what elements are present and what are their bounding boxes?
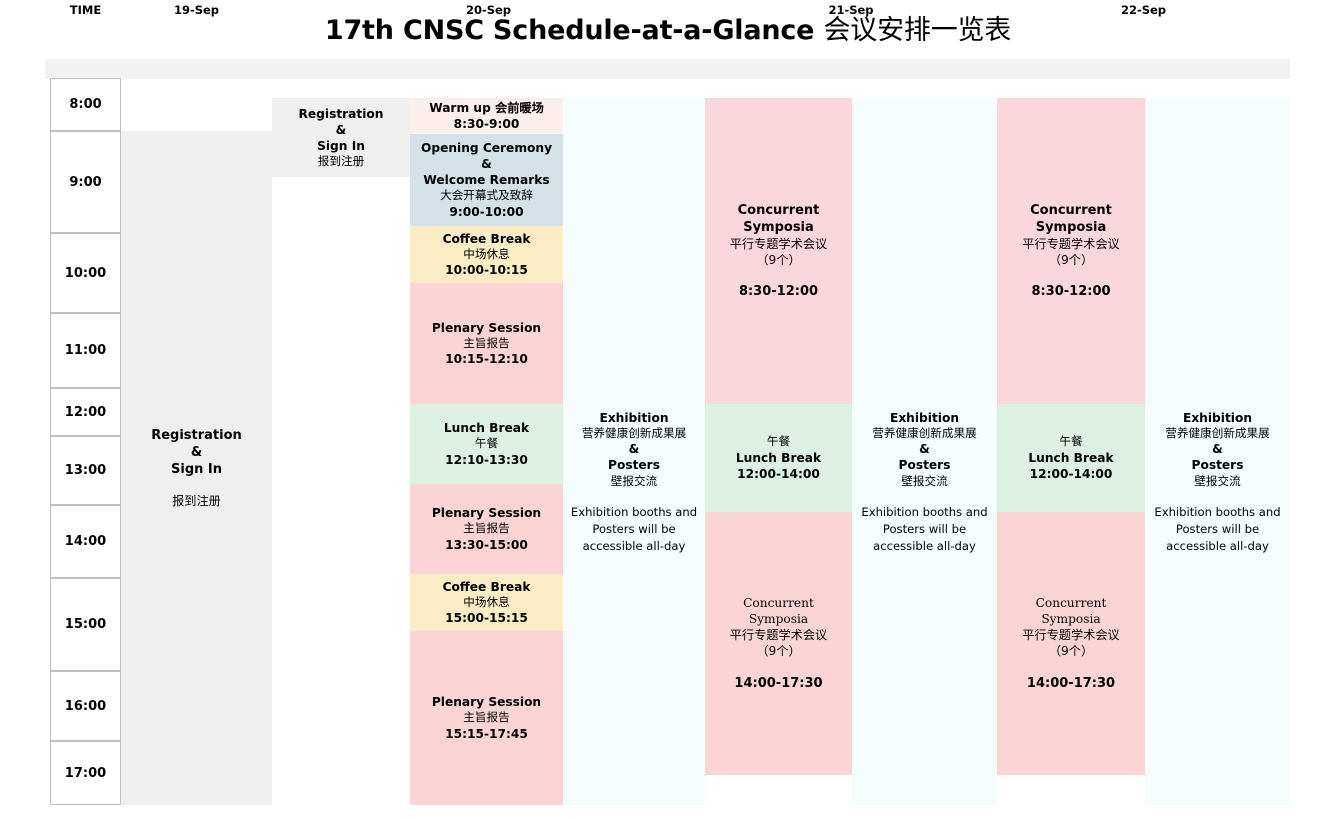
session-sep20-lunch[interactable]: Lunch Break 午餐 12:10-13:30 bbox=[410, 404, 563, 484]
sep20-opening-line5: 9:00-10:00 bbox=[413, 204, 560, 220]
sep20-plenary-pm2-line1: Plenary Session bbox=[413, 694, 560, 710]
sep22-sym-am-line4: （9个） bbox=[1000, 252, 1142, 268]
spacer bbox=[708, 660, 849, 675]
time-cell-1000: 10:00 bbox=[50, 233, 121, 313]
spacer bbox=[1000, 660, 1142, 675]
sep22-sym-pm-line3: 平行专题学术会议 bbox=[1000, 627, 1142, 643]
sep21-lunch-line1: 午餐 bbox=[708, 434, 849, 449]
session-sep22-lunch[interactable]: 午餐 Lunch Break 12:00-14:00 bbox=[997, 404, 1145, 512]
sep21-sym-am-line3: 平行专题学术会议 bbox=[708, 236, 849, 252]
spacer bbox=[566, 489, 702, 504]
time-cell-1500: 15:00 bbox=[50, 578, 121, 671]
sep20-coffee-am-line2: 中场休息 bbox=[413, 247, 560, 262]
sep21-sym-pm-line5: 14:00-17:30 bbox=[708, 675, 849, 692]
sep20-coffee-am-line3: 10:00-10:15 bbox=[413, 262, 560, 278]
sep20-exh-line4: Posters bbox=[566, 457, 702, 473]
spacer bbox=[124, 478, 269, 493]
sep22-sym-am-line3: 平行专题学术会议 bbox=[1000, 236, 1142, 252]
session-sep22-symposia-morning[interactable]: Concurrent Symposia 平行专题学术会议 （9个） 8:30-1… bbox=[997, 98, 1145, 404]
sep20-opening-line1: Opening Ceremony bbox=[413, 140, 560, 156]
header-day-22sep: 22-Sep bbox=[997, 0, 1290, 20]
time-cell-1400: 14:00 bbox=[50, 505, 121, 578]
sep22-exh-line3: & bbox=[1148, 441, 1287, 457]
sep20-exh-line1: Exhibition bbox=[566, 410, 702, 426]
session-sep20-opening[interactable]: Opening Ceremony & Welcome Remarks 大会开幕式… bbox=[410, 134, 563, 226]
sep22-lunch-line3: 12:00-14:00 bbox=[1000, 466, 1142, 482]
sep21-exh-note: Exhibition booths and Posters will be ac… bbox=[855, 504, 994, 554]
sep21-lunch-line3: 12:00-14:00 bbox=[708, 466, 849, 482]
sep20-plenary-pm1-line3: 13:30-15:00 bbox=[413, 537, 560, 553]
sep20-reg-line1: Registration bbox=[275, 106, 407, 122]
session-sep22-exhibition[interactable]: Exhibition 营养健康创新成果展 & Posters 壁报交流 Exhi… bbox=[1145, 98, 1290, 805]
sep20-plenary-pm1-line1: Plenary Session bbox=[413, 505, 560, 521]
spacer bbox=[855, 489, 994, 504]
sep22-exh-note: Exhibition booths and Posters will be ac… bbox=[1148, 504, 1287, 554]
sep22-sym-am-line1: Concurrent bbox=[1000, 202, 1142, 219]
sep20-plenary-pm2-line3: 15:15-17:45 bbox=[413, 726, 560, 742]
sep22-sym-pm-line1: Concurrent bbox=[1000, 595, 1142, 611]
sep22-sym-am-line2: Symposia bbox=[1000, 219, 1142, 236]
sep22-lunch-line2: Lunch Break bbox=[1000, 450, 1142, 466]
session-sep21-exhibition[interactable]: Exhibition 营养健康创新成果展 & Posters 壁报交流 Exhi… bbox=[852, 98, 997, 805]
sep20-opening-line2: & bbox=[413, 156, 560, 172]
sep21-sym-am-line1: Concurrent bbox=[708, 202, 849, 219]
sep21-sym-pm-line4: （9个） bbox=[708, 643, 849, 659]
sep20-exh-note: Exhibition booths and Posters will be ac… bbox=[566, 504, 702, 554]
sep20-reg-line4: 报到注册 bbox=[275, 154, 407, 169]
time-cell-1200: 12:00 bbox=[50, 388, 121, 436]
sep21-sym-pm-line3: 平行专题学术会议 bbox=[708, 627, 849, 643]
session-sep20-warmup[interactable]: Warm up 会前暖场 8:30-9:00 bbox=[410, 98, 563, 134]
sep20-warmup-line2: 8:30-9:00 bbox=[413, 116, 560, 132]
sep19-reg-line3: Sign In bbox=[124, 461, 269, 478]
sep20-plenary-am-line1: Plenary Session bbox=[413, 320, 560, 336]
sep20-plenary-pm2-line2: 主旨报告 bbox=[413, 710, 560, 725]
sep20-lunch-line2: 午餐 bbox=[413, 436, 560, 451]
session-sep20-exhibition[interactable]: Exhibition 营养健康创新成果展 & Posters 壁报交流 Exhi… bbox=[563, 98, 705, 805]
sep20-exh-line5: 壁报交流 bbox=[566, 474, 702, 489]
sep20-reg-line3: Sign In bbox=[275, 138, 407, 154]
sep20-exh-line3: & bbox=[566, 441, 702, 457]
sep21-exh-line2: 营养健康创新成果展 bbox=[855, 426, 994, 441]
sep20-plenary-am-line3: 10:15-12:10 bbox=[413, 351, 560, 367]
day-header-band bbox=[45, 59, 1290, 79]
header-day-20sep: 20-Sep bbox=[272, 0, 705, 20]
session-sep19-registration[interactable]: Registration & Sign In 报到注册 bbox=[121, 131, 272, 805]
sep20-plenary-am-line2: 主旨报告 bbox=[413, 336, 560, 351]
session-sep21-symposia-afternoon[interactable]: Concurrent Symposia 平行专题学术会议 （9个） 14:00-… bbox=[705, 512, 852, 775]
sep21-exh-line5: 壁报交流 bbox=[855, 474, 994, 489]
spacer bbox=[708, 268, 849, 283]
session-sep20-coffee-afternoon[interactable]: Coffee Break 中场休息 15:00-15:15 bbox=[410, 574, 563, 631]
sep20-opening-line4: 大会开幕式及致辞 bbox=[413, 188, 560, 203]
sep20-coffee-am-line1: Coffee Break bbox=[413, 231, 560, 247]
sep21-sym-am-line4: （9个） bbox=[708, 252, 849, 268]
header-day-19sep: 19-Sep bbox=[121, 0, 272, 20]
sep22-exh-line1: Exhibition bbox=[1148, 410, 1287, 426]
sep21-sym-am-line5: 8:30-12:00 bbox=[708, 283, 849, 300]
session-sep21-symposia-morning[interactable]: Concurrent Symposia 平行专题学术会议 （9个） 8:30-1… bbox=[705, 98, 852, 404]
session-sep20-plenary-afternoon-1[interactable]: Plenary Session 主旨报告 13:30-15:00 bbox=[410, 484, 563, 574]
sep22-exh-line2: 营养健康创新成果展 bbox=[1148, 426, 1287, 441]
sep20-exh-line2: 营养健康创新成果展 bbox=[566, 426, 702, 441]
session-sep20-registration[interactable]: Registration & Sign In 报到注册 bbox=[272, 98, 410, 177]
sep20-lunch-line1: Lunch Break bbox=[413, 420, 560, 436]
sep22-sym-am-line5: 8:30-12:00 bbox=[1000, 283, 1142, 300]
sep22-sym-pm-line4: （9个） bbox=[1000, 643, 1142, 659]
sep20-coffee-pm-line2: 中场休息 bbox=[413, 595, 560, 610]
sep21-lunch-line2: Lunch Break bbox=[708, 450, 849, 466]
time-cell-1700: 17:00 bbox=[50, 741, 121, 805]
session-sep20-coffee-morning[interactable]: Coffee Break 中场休息 10:00-10:15 bbox=[410, 226, 563, 283]
sep21-sym-pm-line2: Symposia bbox=[708, 611, 849, 627]
header-time-label: TIME bbox=[50, 0, 121, 20]
sep20-plenary-pm1-line2: 主旨报告 bbox=[413, 521, 560, 536]
sep20-coffee-pm-line1: Coffee Break bbox=[413, 579, 560, 595]
sep20-lunch-line3: 12:10-13:30 bbox=[413, 452, 560, 468]
sep21-exh-line3: & bbox=[855, 441, 994, 457]
sep20-opening-line3: Welcome Remarks bbox=[413, 172, 560, 188]
sep20-coffee-pm-line3: 15:00-15:15 bbox=[413, 610, 560, 626]
sep21-exh-line1: Exhibition bbox=[855, 410, 994, 426]
time-cell-0800: 8:00 bbox=[50, 78, 121, 131]
sep22-lunch-line1: 午餐 bbox=[1000, 434, 1142, 449]
sep22-exh-line4: Posters bbox=[1148, 457, 1287, 473]
time-cell-1600: 16:00 bbox=[50, 671, 121, 741]
sep21-exh-line4: Posters bbox=[855, 457, 994, 473]
sep21-sym-am-line2: Symposia bbox=[708, 219, 849, 236]
session-sep20-plenary-afternoon-2[interactable]: Plenary Session 主旨报告 15:15-17:45 bbox=[410, 631, 563, 805]
sep19-reg-line4: 报到注册 bbox=[124, 493, 269, 509]
sep22-sym-pm-line5: 14:00-17:30 bbox=[1000, 675, 1142, 692]
sep20-warmup-line1: Warm up 会前暖场 bbox=[413, 100, 560, 116]
sep21-sym-pm-line1: Concurrent bbox=[708, 595, 849, 611]
sep20-reg-line2: & bbox=[275, 122, 407, 138]
time-cell-1100: 11:00 bbox=[50, 313, 121, 388]
spacer bbox=[1000, 268, 1142, 283]
time-cell-1300: 13:00 bbox=[50, 436, 121, 505]
schedule-page: 17th CNSC Schedule-at-a-Glance 会议安排一览表 T… bbox=[0, 0, 1336, 819]
session-sep21-lunch[interactable]: 午餐 Lunch Break 12:00-14:00 bbox=[705, 404, 852, 512]
time-cell-0900: 9:00 bbox=[50, 131, 121, 233]
sep22-sym-pm-line2: Symposia bbox=[1000, 611, 1142, 627]
session-sep22-symposia-afternoon[interactable]: Concurrent Symposia 平行专题学术会议 （9个） 14:00-… bbox=[997, 512, 1145, 775]
session-sep20-plenary-morning[interactable]: Plenary Session 主旨报告 10:15-12:10 bbox=[410, 283, 563, 404]
header-day-21sep: 21-Sep bbox=[705, 0, 997, 20]
sep19-reg-line1: Registration bbox=[124, 427, 269, 444]
sep19-reg-line2: & bbox=[124, 444, 269, 461]
spacer bbox=[1148, 489, 1287, 504]
sep22-exh-line5: 壁报交流 bbox=[1148, 474, 1287, 489]
